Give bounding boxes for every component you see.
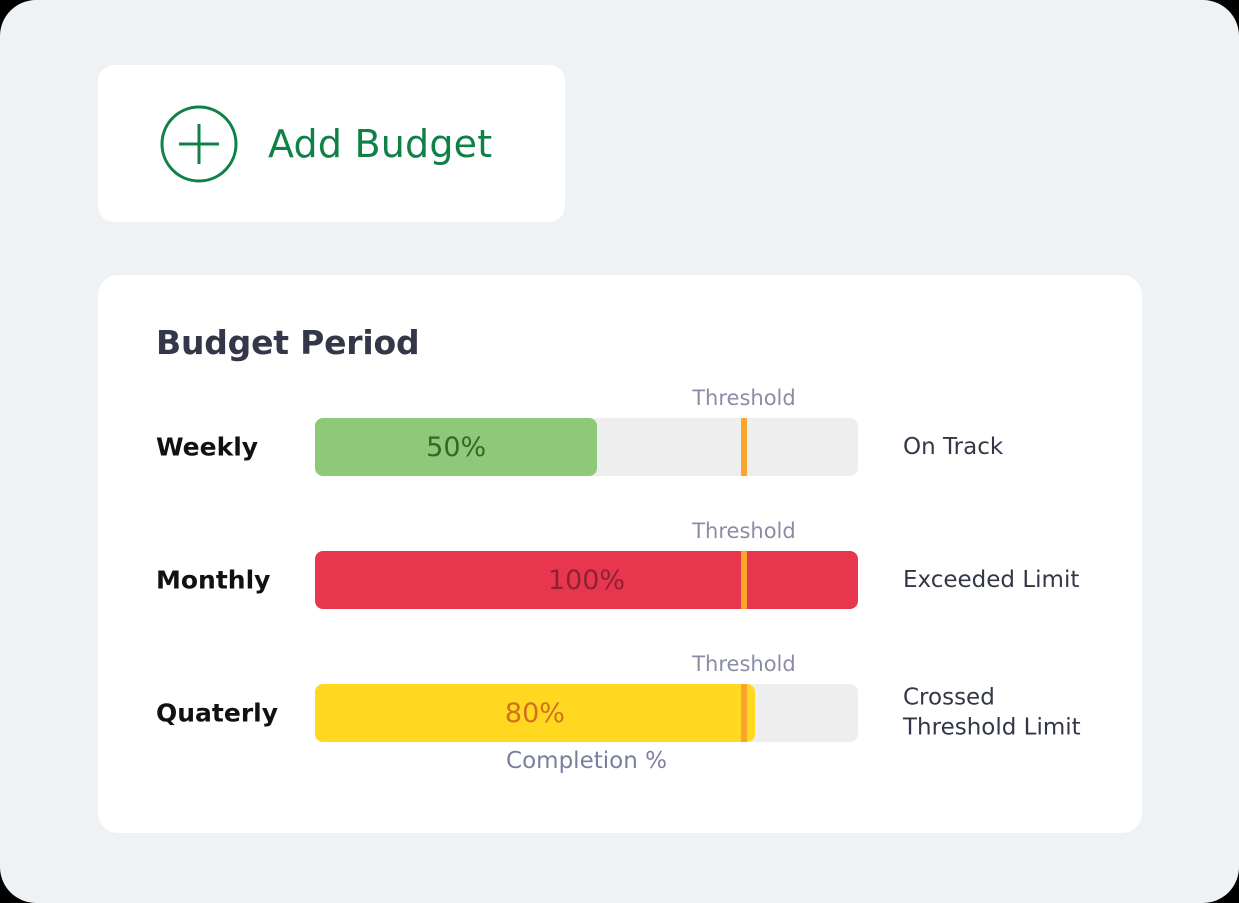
status-quaterly: Crossed Threshold Limit <box>903 682 1113 743</box>
progress-track-quaterly[interactable]: 80% <box>315 684 858 742</box>
budget-rows: Weekly Threshold 50% On Track Monthly Th… <box>98 380 1142 779</box>
plus-circle-icon <box>159 104 239 184</box>
add-budget-card[interactable]: Add Budget <box>98 65 565 222</box>
progress-fill-weekly: 50% <box>315 418 597 476</box>
progress-track-weekly[interactable]: 50% <box>315 418 858 476</box>
progress-value-quaterly: 80% <box>505 698 565 729</box>
row-label-monthly: Monthly <box>156 565 270 594</box>
budget-period-card: Budget Period Weekly Threshold 50% On Tr… <box>98 275 1142 833</box>
progress-value-weekly: 50% <box>426 432 486 463</box>
status-monthly: Exceeded Limit <box>903 564 1113 594</box>
threshold-marker-quaterly <box>741 684 747 742</box>
add-budget-button[interactable]: Add Budget <box>159 104 492 184</box>
row-label-quaterly: Quaterly <box>156 698 278 727</box>
app-root: Add Budget Budget Period Weekly Threshol… <box>0 0 1239 903</box>
budget-row-monthly[interactable]: Monthly Threshold 100% Exceeded Limit <box>98 513 1142 646</box>
progress-fill-monthly: 100% <box>315 551 858 609</box>
threshold-marker-monthly <box>741 551 747 609</box>
threshold-label-quaterly: Threshold <box>692 652 796 676</box>
progress-track-monthly[interactable]: 100% <box>315 551 858 609</box>
threshold-marker-weekly <box>741 418 747 476</box>
status-weekly: On Track <box>903 431 1113 461</box>
threshold-label-weekly: Threshold <box>692 386 796 410</box>
budget-row-weekly[interactable]: Weekly Threshold 50% On Track <box>98 380 1142 513</box>
threshold-label-monthly: Threshold <box>692 519 796 543</box>
progress-fill-quaterly: 80% <box>315 684 755 742</box>
page-title: Budget Period <box>156 323 419 362</box>
axis-label-completion: Completion % <box>315 748 858 774</box>
progress-value-monthly: 100% <box>548 565 625 596</box>
add-budget-label: Add Budget <box>268 122 492 166</box>
row-label-weekly: Weekly <box>156 432 258 461</box>
